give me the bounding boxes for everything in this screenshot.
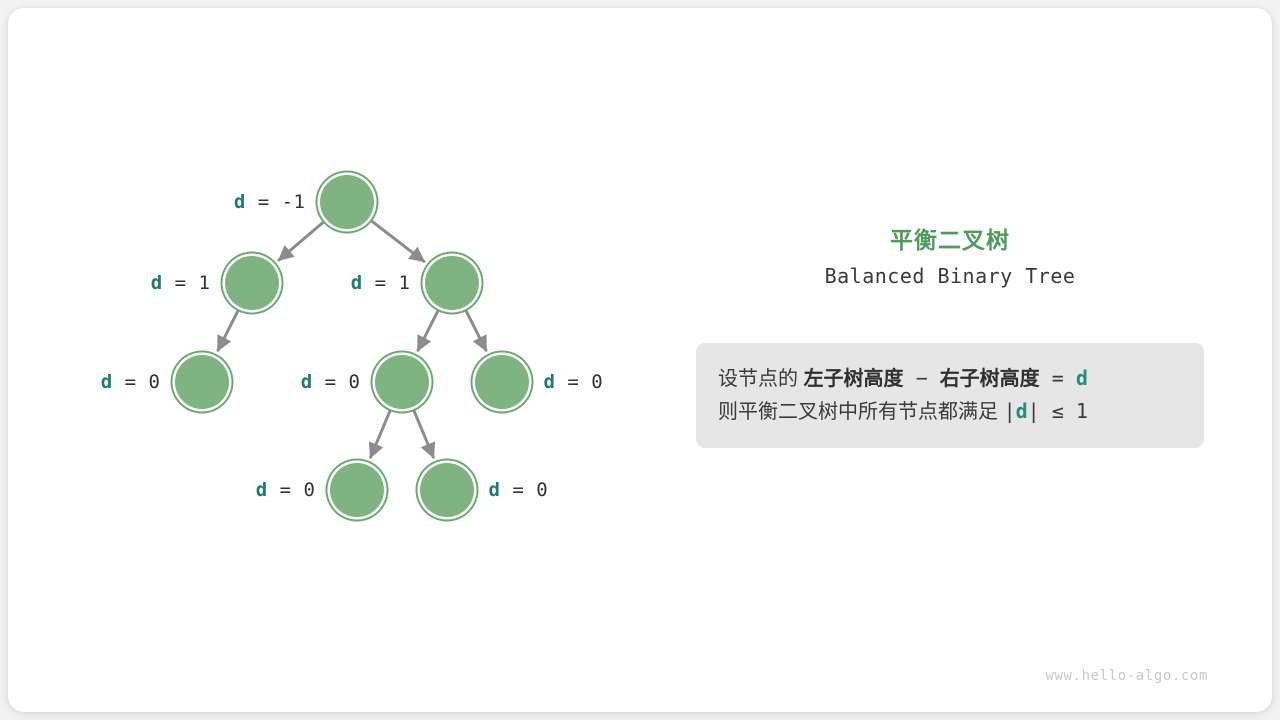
node-balance-label: d = 0 bbox=[101, 371, 161, 393]
screenshot-canvas: d = -1d = 1d = 1d = 0d = 0d = 0d = 0d = … bbox=[0, 0, 1280, 720]
formula-l2-bar-right: | bbox=[1028, 399, 1040, 423]
node-label-operator: = bbox=[163, 272, 199, 294]
node-label-operator: = bbox=[268, 479, 304, 501]
node-label-operator: = bbox=[500, 479, 536, 501]
node-label-variable: d bbox=[544, 371, 556, 393]
node-label-operator: = bbox=[363, 272, 399, 294]
node-balance-label: d = 1 bbox=[151, 272, 211, 294]
formula-box: 设节点的 左子树高度 − 右子树高度 = d 则平衡二叉树中所有节点都满足 |d… bbox=[696, 343, 1204, 448]
page-subtitle: Balanced Binary Tree bbox=[696, 263, 1204, 289]
formula-line-1: 设节点的 左子树高度 − 右子树高度 = d bbox=[718, 362, 1182, 395]
formula-l1-term1: 左子树高度 bbox=[804, 368, 904, 390]
tree-edge bbox=[279, 222, 324, 260]
tree-edge bbox=[466, 310, 486, 350]
formula-l2-relation: ≤ bbox=[1040, 399, 1076, 423]
info-panel: 平衡二叉树 Balanced Binary Tree 设节点的 左子树高度 − … bbox=[696, 225, 1204, 448]
node-balance-label: d = 0 bbox=[544, 371, 604, 393]
tree-edge bbox=[371, 221, 424, 262]
node-balance-label: d = -1 bbox=[234, 191, 306, 213]
tree-edge bbox=[414, 410, 434, 457]
formula-l1-minus: − bbox=[904, 366, 940, 390]
watermark: www.hello-algo.com bbox=[1045, 668, 1208, 684]
tree-node bbox=[320, 175, 374, 229]
tree-node bbox=[475, 355, 529, 409]
formula-l1-equals: = bbox=[1040, 366, 1076, 390]
node-label-value: 1 bbox=[199, 272, 211, 294]
node-label-value: 0 bbox=[536, 479, 548, 501]
node-label-variable: d bbox=[301, 371, 313, 393]
formula-l1-variable: d bbox=[1076, 366, 1088, 390]
node-label-variable: d bbox=[489, 479, 501, 501]
node-label-variable: d bbox=[256, 479, 268, 501]
node-label-value: 0 bbox=[149, 371, 161, 393]
tree-node bbox=[330, 463, 384, 517]
node-label-value: 0 bbox=[591, 371, 603, 393]
node-balance-label: d = 0 bbox=[256, 479, 316, 501]
tree-node bbox=[425, 256, 479, 310]
node-label-value: -1 bbox=[282, 191, 306, 213]
tree-edge-layer bbox=[0, 0, 660, 720]
node-balance-label: d = 0 bbox=[489, 479, 549, 501]
tree-edge bbox=[371, 410, 391, 457]
node-label-value: 0 bbox=[304, 479, 316, 501]
node-label-operator: = bbox=[113, 371, 149, 393]
formula-l2-value: 1 bbox=[1076, 399, 1088, 423]
node-label-operator: = bbox=[246, 191, 282, 213]
tree-node bbox=[420, 463, 474, 517]
formula-line-2: 则平衡二叉树中所有节点都满足 |d| ≤ 1 bbox=[718, 395, 1182, 428]
tree-node bbox=[375, 355, 429, 409]
formula-l1-term2: 右子树高度 bbox=[940, 368, 1040, 390]
formula-l2-prefix: 则平衡二叉树中所有节点都满足 bbox=[718, 401, 1004, 423]
tree-diagram: d = -1d = 1d = 1d = 0d = 0d = 0d = 0d = … bbox=[0, 0, 660, 720]
tree-edge bbox=[218, 310, 238, 350]
node-label-operator: = bbox=[313, 371, 349, 393]
formula-l1-prefix: 设节点的 bbox=[718, 368, 804, 390]
formula-l2-variable: d bbox=[1016, 399, 1028, 423]
formula-l2-bar-left: | bbox=[1004, 399, 1016, 423]
tree-node bbox=[175, 355, 229, 409]
tree-node bbox=[225, 256, 279, 310]
node-label-operator: = bbox=[555, 371, 591, 393]
node-label-variable: d bbox=[101, 371, 113, 393]
node-balance-label: d = 1 bbox=[351, 272, 411, 294]
page-title: 平衡二叉树 bbox=[696, 225, 1204, 255]
node-label-variable: d bbox=[234, 191, 246, 213]
node-label-value: 1 bbox=[399, 272, 411, 294]
node-label-variable: d bbox=[351, 272, 363, 294]
node-balance-label: d = 0 bbox=[301, 371, 361, 393]
node-label-value: 0 bbox=[349, 371, 361, 393]
node-label-variable: d bbox=[151, 272, 163, 294]
tree-edge bbox=[418, 310, 438, 350]
